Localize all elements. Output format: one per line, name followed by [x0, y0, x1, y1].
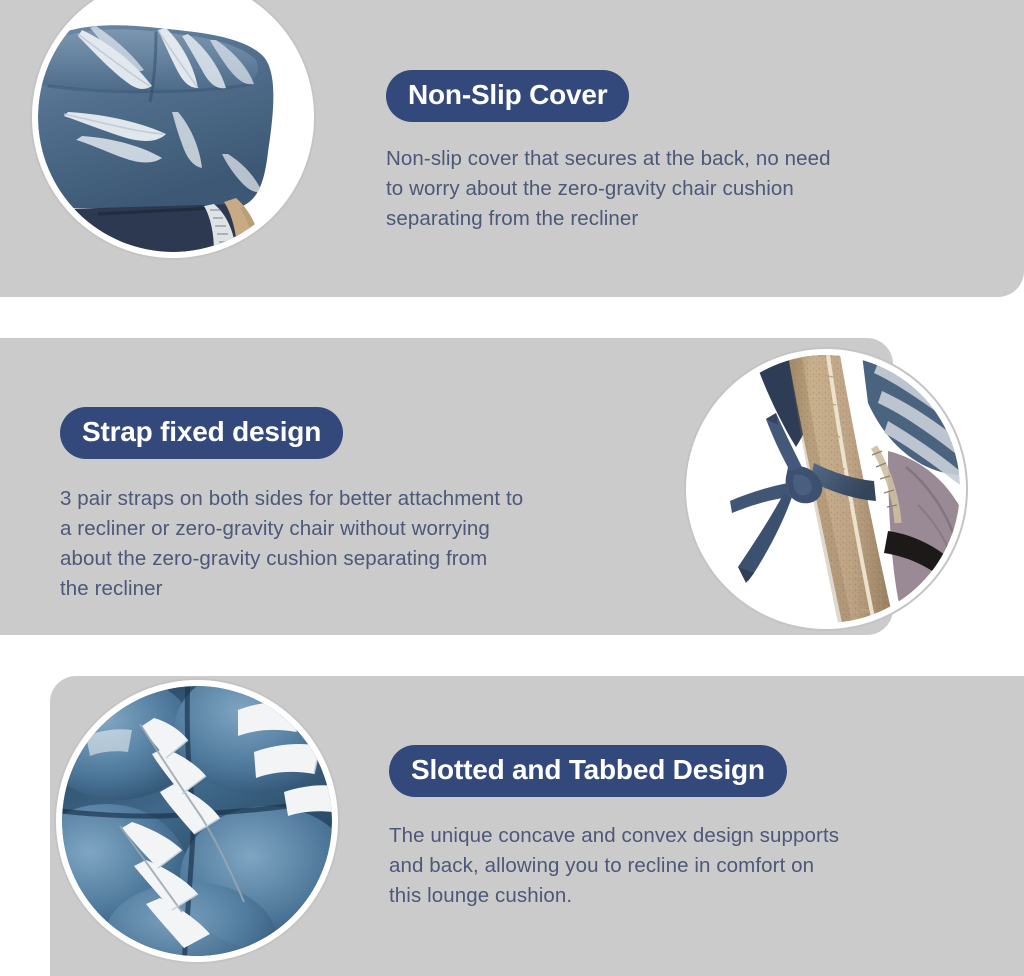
feature-heading-non-slip-cover: Non-Slip Cover: [386, 70, 629, 122]
feature-text-non-slip-cover: Non-Slip Cover Non-slip cover that secur…: [386, 70, 956, 234]
photo-clip: [62, 686, 332, 956]
feature-heading-slotted-and-tabbed-design: Slotted and Tabbed Design: [389, 745, 787, 797]
feature-photo-non-slip-cover: [38, 0, 308, 252]
feature-photo-strap-fixed-design: [692, 355, 960, 623]
feature-body-strap-fixed-design: 3 pair straps on both sides for better a…: [60, 484, 640, 604]
feature-body-non-slip-cover: Non-slip cover that secures at the back,…: [386, 144, 956, 234]
feature-text-strap-fixed-design: Strap fixed design 3 pair straps on both…: [60, 407, 640, 604]
tufted-cushion-closeup-scene: [62, 686, 332, 956]
feature-body-slotted-and-tabbed-design: The unique concave and convex design sup…: [389, 821, 959, 911]
photo-clip: [38, 0, 308, 252]
infographic-page: Non-Slip Cover Non-slip cover that secur…: [0, 0, 1024, 976]
strap-knot-pole-scene: [692, 355, 960, 623]
feature-text-slotted-and-tabbed-design: Slotted and Tabbed Design The unique con…: [389, 745, 959, 911]
feature-photo-slotted-and-tabbed-design: [62, 686, 332, 956]
cushion-recliner-scene: [38, 0, 308, 252]
feature-heading-strap-fixed-design: Strap fixed design: [60, 407, 343, 459]
photo-clip: [692, 355, 960, 623]
